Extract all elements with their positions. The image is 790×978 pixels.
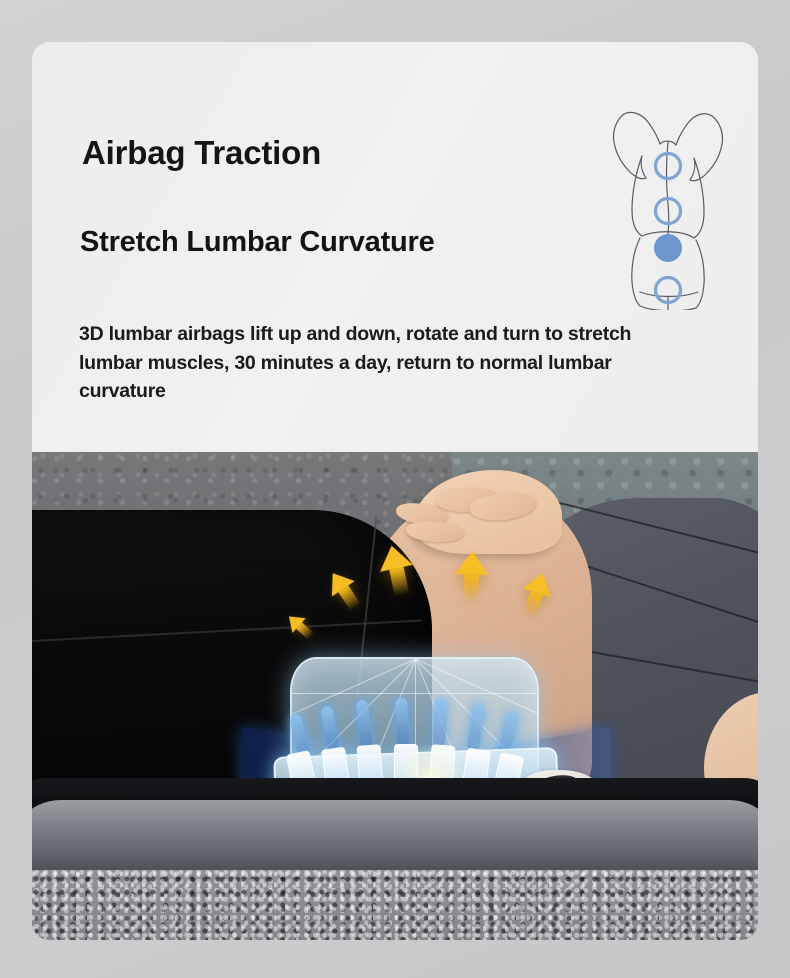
traction-hook-5: [433, 699, 447, 746]
page-title: Airbag Traction: [82, 134, 321, 172]
product-feature-card: Airbag Traction Stretch Lumbar Curvature…: [32, 42, 758, 940]
marker-upper-spine: [656, 154, 681, 179]
back-torso-spine-diagram: [600, 80, 740, 310]
text-panel: Airbag Traction Stretch Lumbar Curvature…: [32, 42, 758, 452]
traction-hook-4: [395, 698, 409, 744]
speckled-carpet-floor: [32, 870, 758, 940]
lumbar-traction-device-in-use-photo: [32, 452, 758, 940]
subtitle: Stretch Lumbar Curvature: [80, 226, 435, 259]
marker-lumbar: [654, 234, 682, 262]
stretch-arrow-4: [455, 551, 489, 575]
body-description: 3D lumbar airbags lift up and down, rota…: [79, 320, 689, 406]
